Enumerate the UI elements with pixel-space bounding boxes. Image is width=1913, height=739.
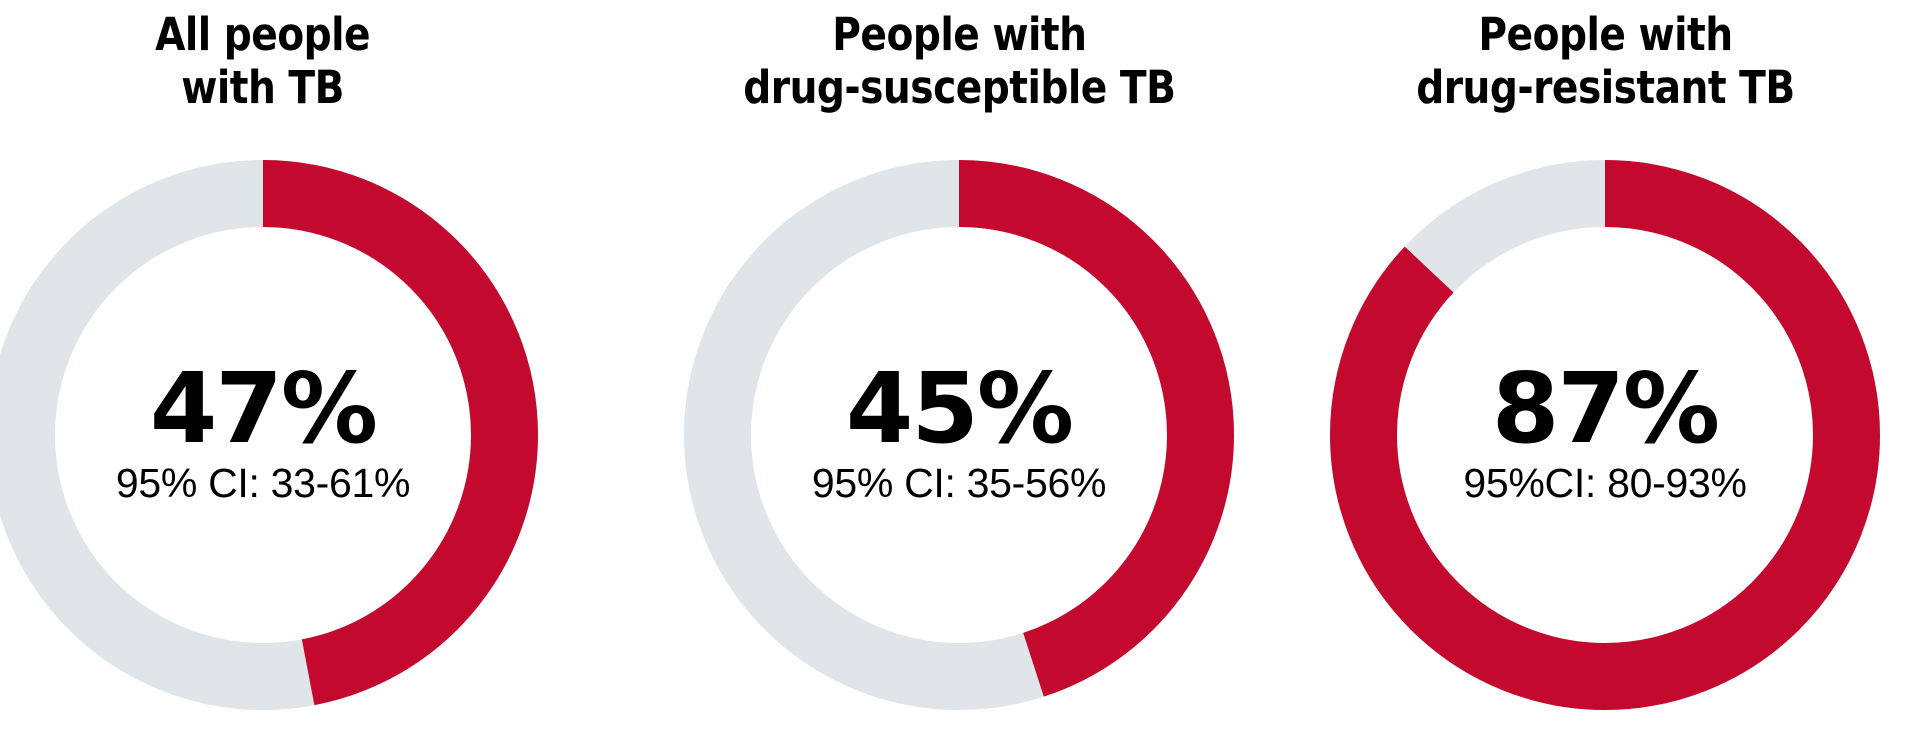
donut-chart-all-people-with-tb: 47% 95% CI: 33-61% [0, 160, 538, 710]
donut-panel-drug-resistant-tb: People with drug-resistant TB 87% 95%CI:… [1286, 0, 1913, 739]
donut-chart-figure: All people with TB 47% 95% CI: 33-61% Pe… [0, 0, 1913, 739]
donut-panel-all-people-with-tb: All people with TB 47% 95% CI: 33-61% [0, 0, 526, 739]
donut-chart-drug-susceptible-tb: 45% 95% CI: 35-56% [684, 160, 1234, 710]
donut-chart-drug-resistant-tb: 87% 95%CI: 80-93% [1330, 160, 1880, 710]
donut-svg [0, 160, 538, 710]
panel-title: People with drug-susceptible TB [743, 8, 1175, 114]
donut-svg [684, 160, 1234, 710]
donut-panel-drug-susceptible-tb: People with drug-susceptible TB 45% 95% … [640, 0, 1278, 739]
donut-svg [1330, 160, 1880, 710]
panel-title: All people with TB [155, 8, 370, 114]
panel-title: People with drug-resistant TB [1416, 8, 1794, 114]
